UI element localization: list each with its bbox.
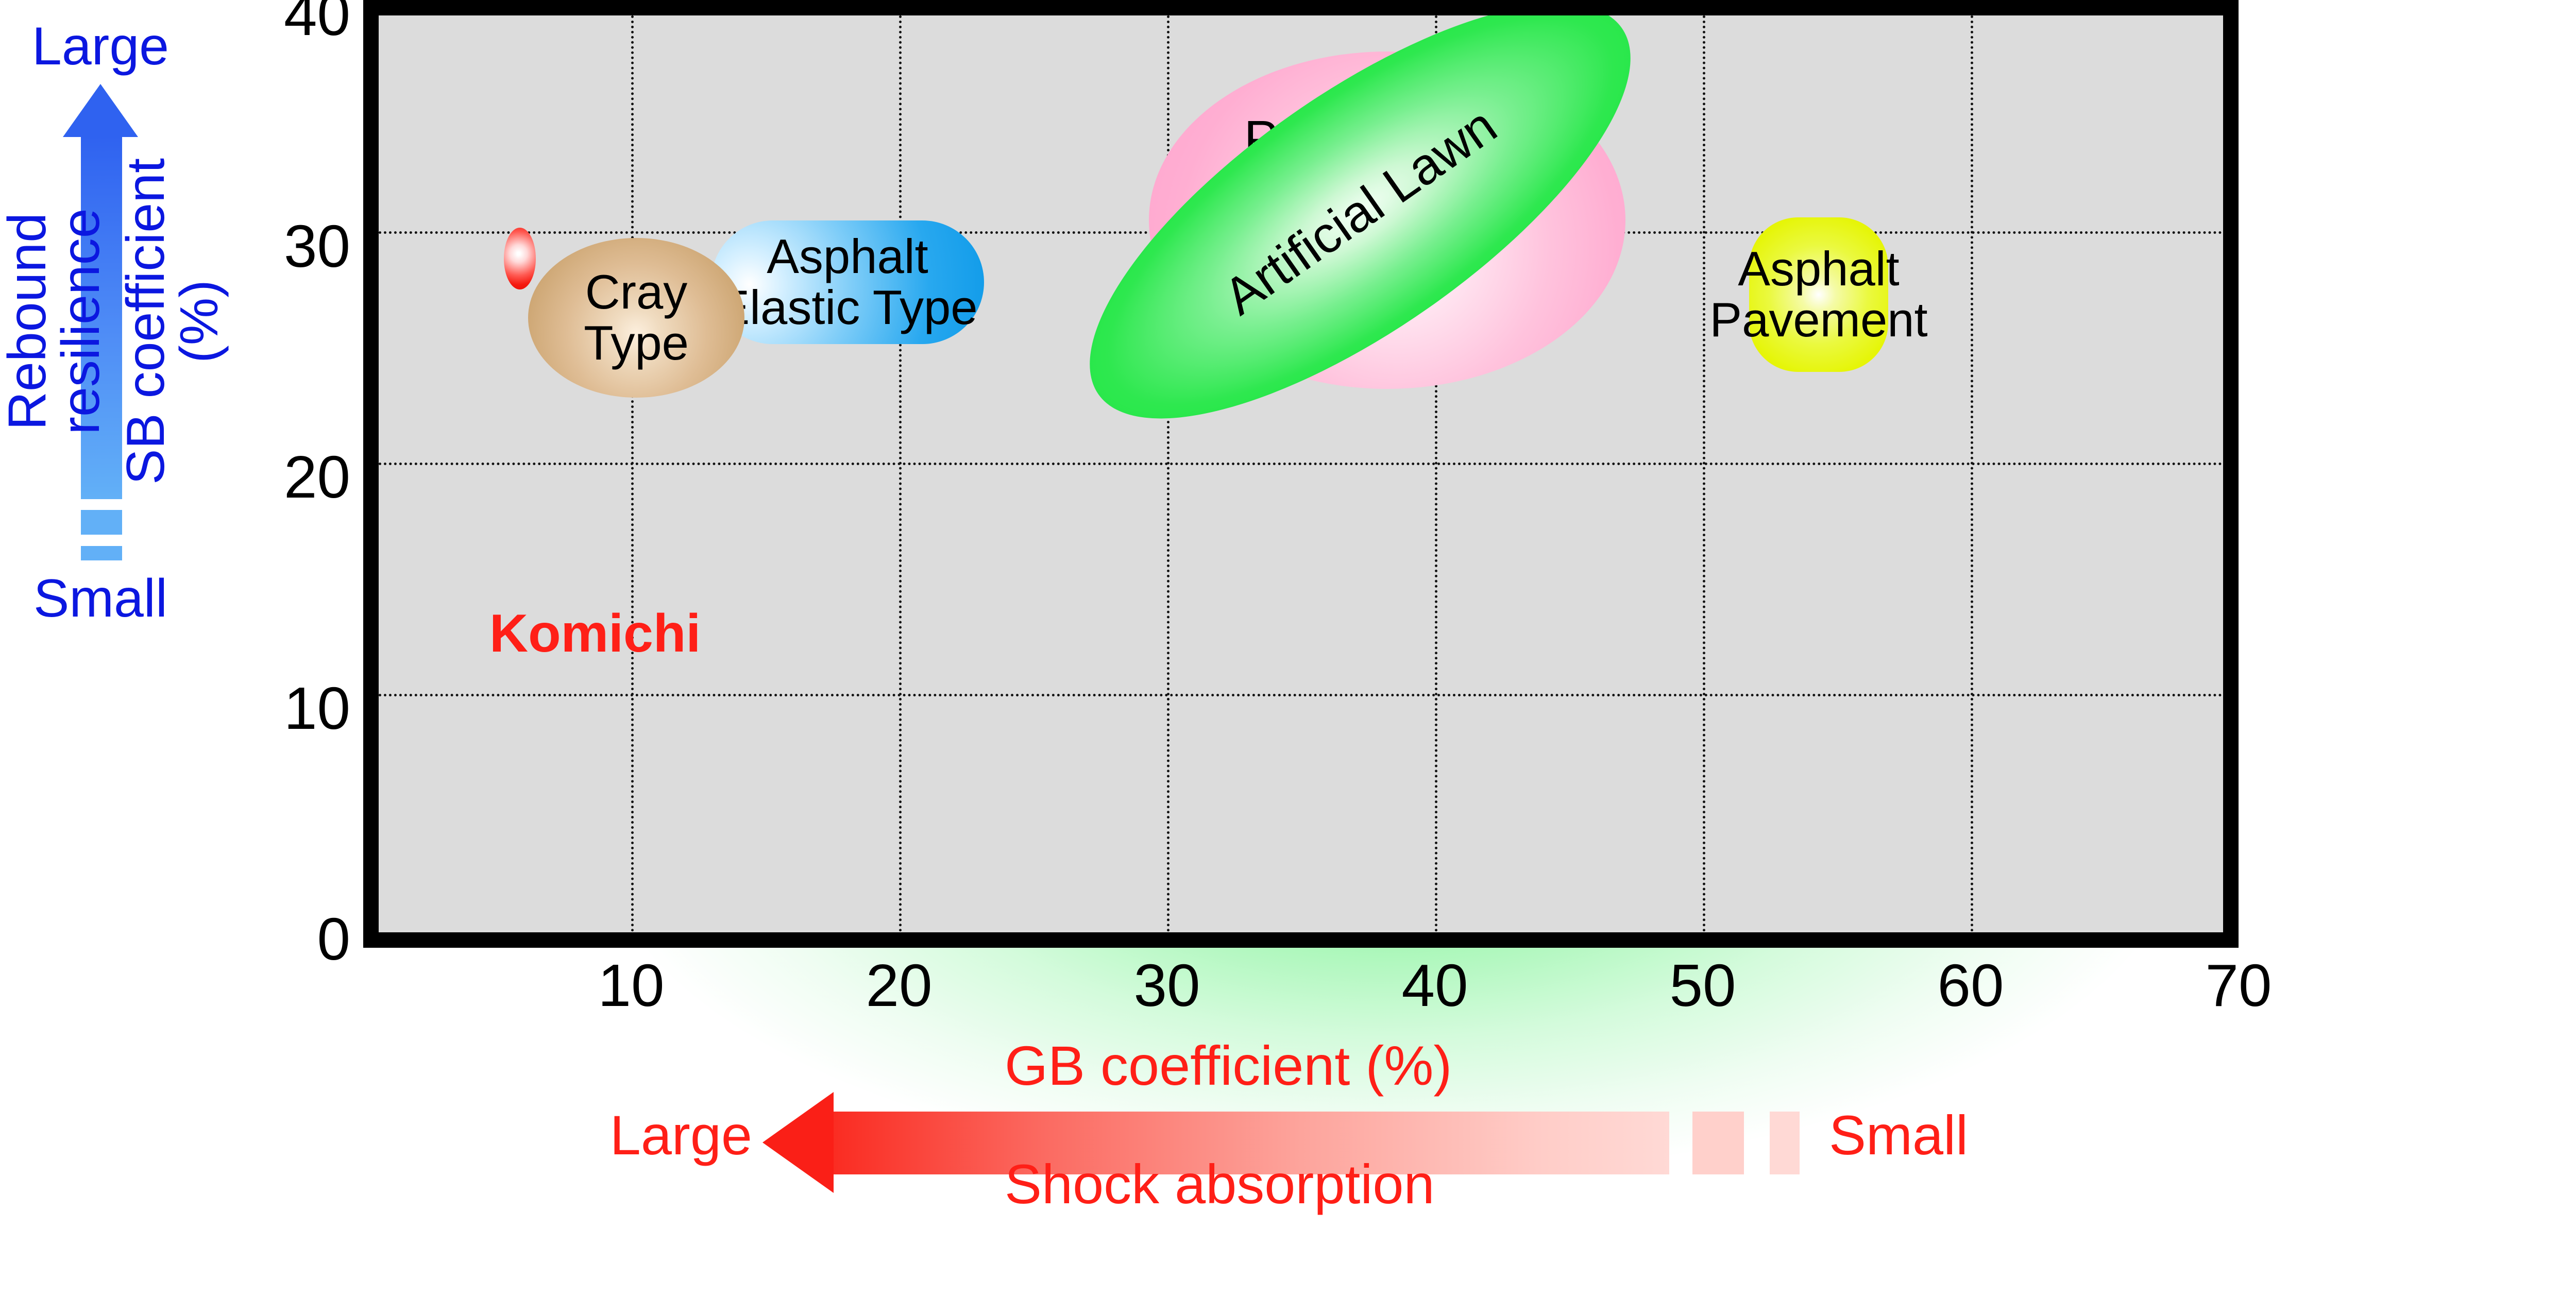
- x-tick-10: 10: [564, 955, 698, 1015]
- y-tick-0: 0: [216, 909, 350, 969]
- x-tick-40: 40: [1368, 955, 1502, 1015]
- gridline-x-20: [899, 15, 902, 932]
- region-asphalt-elastic-type[interactable]: Asphalt Elastic Type: [711, 220, 984, 344]
- x-tick-50: 50: [1636, 955, 1770, 1015]
- gridline-y-10: [379, 694, 2223, 696]
- y-tick-20: 20: [216, 447, 350, 507]
- y-tick-10: 10: [216, 678, 350, 738]
- x-tick-70: 70: [2172, 955, 2306, 1015]
- region-asphalt-pavement-label: Asphalt Pavement: [1749, 217, 1888, 372]
- left-arrow-head-icon: [762, 1092, 834, 1193]
- gridline-x-60: [1971, 15, 1973, 932]
- region-cray-type-label: Cray Type: [528, 238, 744, 398]
- x-axis-small-label: Small: [1829, 1107, 2087, 1163]
- y-tick-40: 40: [216, 0, 350, 44]
- gridline-x-10: [631, 15, 634, 932]
- up-arrow-dash-2-icon: [81, 546, 122, 560]
- x-tick-30: 30: [1100, 955, 1234, 1015]
- left-arrow-dash-2-icon: [1770, 1112, 1800, 1174]
- komichi-callout-label: Komichi: [489, 607, 701, 660]
- region-asphalt-pavement[interactable]: Asphalt Pavement: [1749, 217, 1888, 372]
- y-axis-ticks: 40 30 20 10 0: [196, 0, 350, 979]
- plot-area: Komichi Polyuethane Artificial Lawn Asph…: [379, 15, 2223, 932]
- x-axis-title: GB coefficient (%): [1005, 1038, 1674, 1094]
- gridline-y-20: [379, 463, 2223, 465]
- y-axis-small-label: Small: [0, 572, 201, 625]
- x-tick-20: 20: [832, 955, 966, 1015]
- y-tick-30: 30: [216, 216, 350, 276]
- region-asphalt-elastic-type-label: Asphalt Elastic Type: [711, 220, 984, 344]
- gridline-x-50: [1703, 15, 1705, 932]
- y-axis-outer-title: Rebound resilience: [1, 126, 108, 517]
- x-tick-60: 60: [1904, 955, 2038, 1015]
- x-axis-sub-title: Shock absorption: [1005, 1156, 1726, 1212]
- region-cray-type[interactable]: Cray Type: [528, 238, 744, 398]
- y-axis-large-label: Large: [0, 20, 201, 73]
- x-axis-large-label: Large: [577, 1107, 752, 1163]
